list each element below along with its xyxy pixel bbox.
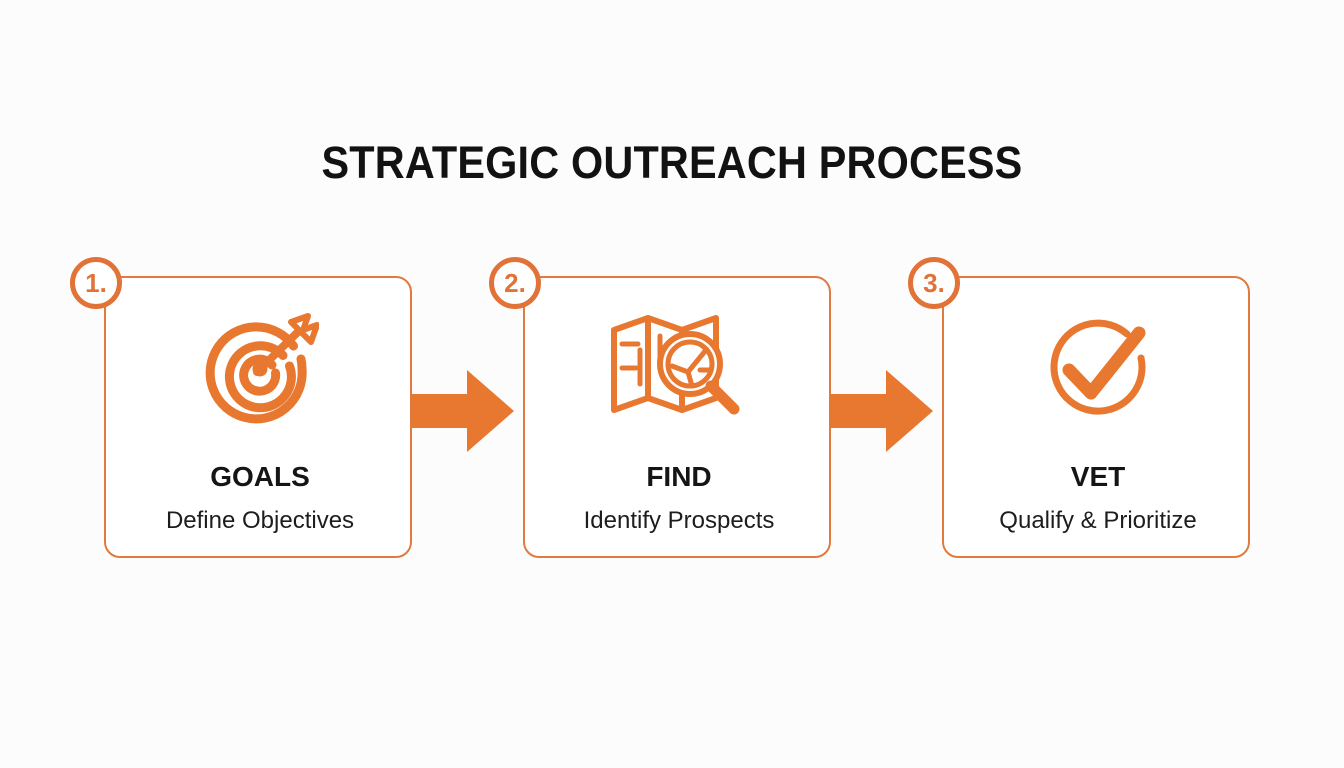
- step-subtitle: Define Objectives: [106, 506, 414, 536]
- step-number-badge: 3.: [908, 257, 960, 309]
- step-card-vet[interactable]: 3. VET Qualify & Prioritize: [942, 276, 1250, 558]
- step-subtitle: Qualify & Prioritize: [944, 506, 1252, 536]
- step-card-goals[interactable]: 1. GOALS Define Obj: [104, 276, 412, 558]
- arrow-right-icon: [411, 368, 515, 454]
- step-subtitle: Identify Prospects: [525, 506, 833, 536]
- step-number-badge: 2.: [489, 257, 541, 309]
- check-circle-icon: [944, 304, 1252, 434]
- diagram-canvas: STRATEGIC OUTREACH PROCESS 1.: [0, 0, 1344, 768]
- step-title: GOALS: [106, 460, 414, 494]
- page-title: STRATEGIC OUTREACH PROCESS: [54, 133, 1290, 193]
- arrow-right-icon: [830, 368, 934, 454]
- step-title: FIND: [525, 460, 833, 494]
- map-magnifier-icon: [525, 304, 833, 434]
- step-title: VET: [944, 460, 1252, 494]
- target-arrow-icon: [106, 304, 414, 434]
- step-number-badge: 1.: [70, 257, 122, 309]
- step-card-find[interactable]: 2.: [523, 276, 831, 558]
